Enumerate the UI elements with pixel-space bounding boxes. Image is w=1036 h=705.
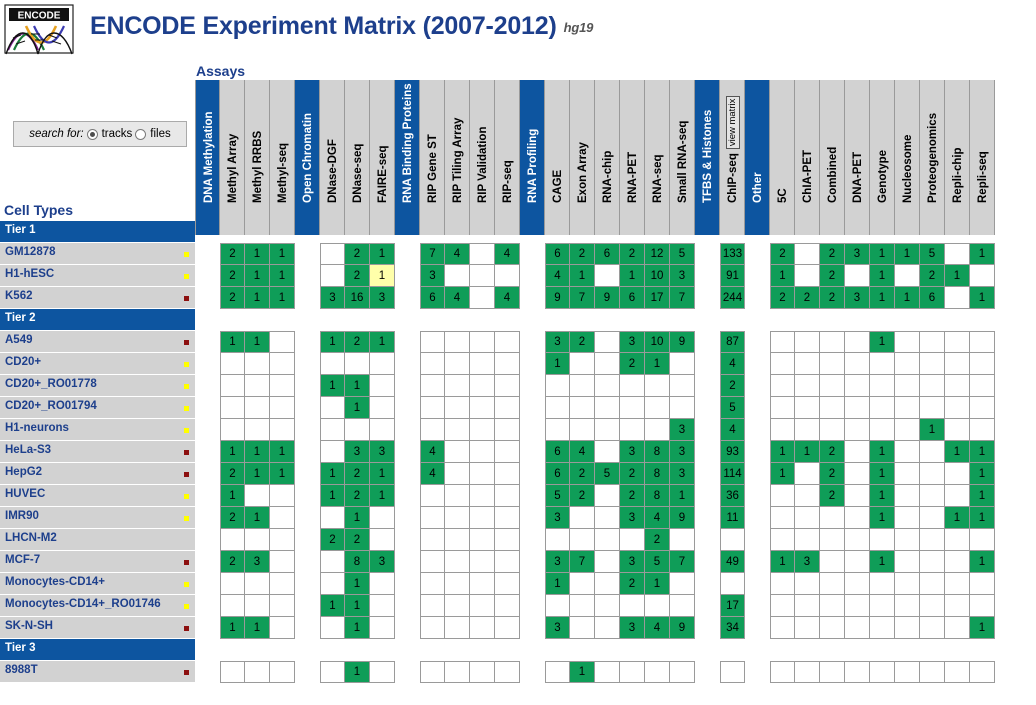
matrix-cell <box>870 397 895 419</box>
matrix-cell[interactable]: 3 <box>620 441 645 463</box>
cell-type-row[interactable]: CD20+_RO01794 <box>0 397 195 419</box>
matrix-cell[interactable]: 1 <box>220 617 245 639</box>
matrix-cell <box>820 595 845 617</box>
cell-type-label[interactable]: LHCN-M2 <box>5 532 57 544</box>
matrix-cell[interactable]: 2 <box>345 243 370 265</box>
matrix-cell[interactable]: 2 <box>345 485 370 507</box>
cell-type-row[interactable]: A549 <box>0 331 195 353</box>
assay-column-header[interactable]: RNA Binding Proteins <box>395 80 420 235</box>
matrix-cell[interactable]: 17 <box>720 595 745 617</box>
matrix-cell[interactable]: 1 <box>970 617 995 639</box>
matrix-cell[interactable]: 1 <box>245 287 270 309</box>
assay-column-header[interactable]: Methyl RRBS <box>245 80 270 235</box>
cell-type-row[interactable]: H1-hESC <box>0 265 195 287</box>
matrix-cell[interactable]: 3 <box>545 331 570 353</box>
assay-column-header[interactable]: ChIP-seqview matrix <box>720 80 745 235</box>
matrix-cell[interactable]: 2 <box>570 243 595 265</box>
matrix-cell[interactable]: 1 <box>270 441 295 463</box>
matrix-cell <box>595 595 620 617</box>
matrix-cell[interactable]: 8 <box>645 441 670 463</box>
matrix-cell[interactable]: 1 <box>945 507 970 529</box>
matrix-cell[interactable]: 36 <box>720 485 745 507</box>
assay-column-header[interactable]: Methyl Array <box>220 80 245 235</box>
assay-column-header[interactable]: DNA-PET <box>845 80 870 235</box>
matrix-cell[interactable]: 2 <box>770 287 795 309</box>
cell-type-label[interactable]: CD20+_RO01778 <box>5 378 97 390</box>
cell-type-status-dot <box>184 516 189 521</box>
matrix-cell[interactable]: 1 <box>770 441 795 463</box>
assay-column-headers: DNA MethylationMethyl ArrayMethyl RRBSMe… <box>195 80 995 235</box>
encode-logo[interactable]: ENCODE <box>4 4 82 56</box>
matrix-cell <box>795 485 820 507</box>
matrix-cell[interactable]: 2 <box>620 485 645 507</box>
tier-header-row: Tier 2 <box>0 309 195 331</box>
matrix-cell[interactable]: 4 <box>545 265 570 287</box>
matrix-cell[interactable]: 2 <box>345 331 370 353</box>
cell-type-label[interactable]: Monocytes-CD14+_RO01746 <box>5 598 161 610</box>
cell-type-row[interactable]: CD20+ <box>0 353 195 375</box>
matrix-cell[interactable]: 1 <box>970 551 995 573</box>
matrix-cell[interactable]: 3 <box>670 441 695 463</box>
matrix-cell[interactable]: 1 <box>970 287 995 309</box>
matrix-cell[interactable]: 2 <box>820 463 845 485</box>
matrix-cell[interactable]: 4 <box>645 507 670 529</box>
matrix-cell[interactable]: 4 <box>645 617 670 639</box>
tier-header-row: Tier 3 <box>0 639 195 661</box>
matrix-cell[interactable]: 11 <box>720 507 745 529</box>
matrix-cell[interactable]: 3 <box>545 551 570 573</box>
matrix-cell[interactable]: 2 <box>320 529 345 551</box>
matrix-row: 15 <box>195 397 1036 419</box>
matrix-cell[interactable]: 1 <box>970 243 995 265</box>
matrix-cell[interactable]: 9 <box>670 331 695 353</box>
matrix-cell[interactable]: 6 <box>545 243 570 265</box>
matrix-cell <box>320 265 345 287</box>
assay-column-header[interactable]: ChIA-PET <box>795 80 820 235</box>
matrix-group-gap <box>295 353 320 375</box>
cell-type-row[interactable]: SK-N-SH <box>0 617 195 639</box>
matrix-cell[interactable]: 5 <box>595 463 620 485</box>
matrix-cell[interactable]: 6 <box>595 243 620 265</box>
matrix-cell[interactable]: 2 <box>570 331 595 353</box>
matrix-cell[interactable]: 1 <box>245 507 270 529</box>
cell-type-label[interactable]: K562 <box>5 290 33 302</box>
matrix-cell[interactable]: 1 <box>770 463 795 485</box>
matrix-cell[interactable]: 5 <box>720 397 745 419</box>
cell-type-row[interactable]: LHCN-M2 <box>0 529 195 551</box>
matrix-cell <box>220 573 245 595</box>
matrix-cell[interactable]: 1 <box>970 485 995 507</box>
matrix-cell[interactable]: 1 <box>370 463 395 485</box>
matrix-group-gap <box>745 595 770 617</box>
matrix-cell[interactable]: 1 <box>870 485 895 507</box>
matrix-cell[interactable]: 4 <box>445 243 470 265</box>
matrix-cell[interactable]: 1 <box>895 243 920 265</box>
cell-type-row[interactable]: GM12878 <box>0 243 195 265</box>
cell-type-row[interactable]: H1-neurons <box>0 419 195 441</box>
matrix-cell[interactable]: 1 <box>545 353 570 375</box>
cell-type-label[interactable]: HUVEC <box>5 488 45 500</box>
matrix-cell[interactable]: 1 <box>245 463 270 485</box>
assay-column-header[interactable]: Nucleosome <box>895 80 920 235</box>
matrix-cell[interactable]: 2 <box>920 265 945 287</box>
matrix-cell[interactable]: 1 <box>345 397 370 419</box>
assay-column-header[interactable]: RIP Gene ST <box>420 80 445 235</box>
matrix-cell[interactable]: 1 <box>770 265 795 287</box>
matrix-cell[interactable]: 3 <box>670 265 695 287</box>
matrix-cell[interactable]: 133 <box>720 243 745 265</box>
matrix-cell[interactable]: 2 <box>620 463 645 485</box>
assay-column-header[interactable]: Repli-chip <box>945 80 970 235</box>
page-title: ENCODE Experiment Matrix (2007-2012)hg19 <box>90 12 593 41</box>
matrix-cell[interactable]: 244 <box>720 287 745 309</box>
radio-tracks[interactable] <box>87 129 98 140</box>
cell-type-label[interactable]: CD20+ <box>5 356 41 368</box>
matrix-cell <box>845 419 870 441</box>
cell-type-row[interactable]: Monocytes-CD14+ <box>0 573 195 595</box>
cell-type-row[interactable]: 8988T <box>0 661 195 683</box>
cell-type-label[interactable]: A549 <box>5 334 33 346</box>
matrix-cell[interactable]: 1 <box>345 375 370 397</box>
matrix-cell[interactable]: 4 <box>570 441 595 463</box>
matrix-cell[interactable]: 1 <box>345 617 370 639</box>
matrix-cell[interactable]: 1 <box>370 331 395 353</box>
cell-type-label[interactable]: GM12878 <box>5 246 56 258</box>
matrix-cell[interactable]: 1 <box>545 573 570 595</box>
matrix-cell[interactable]: 87 <box>720 331 745 353</box>
matrix-cell[interactable]: 1 <box>370 265 395 287</box>
matrix-cell[interactable]: 1 <box>945 441 970 463</box>
matrix-cell[interactable]: 3 <box>370 287 395 309</box>
matrix-cell[interactable]: 34 <box>720 617 745 639</box>
assay-column-label: Other <box>745 51 770 206</box>
matrix-row: 211334911111 <box>195 507 1036 529</box>
matrix-cell[interactable]: 9 <box>595 287 620 309</box>
cell-type-row[interactable]: HepG2 <box>0 463 195 485</box>
matrix-cell[interactable]: 4 <box>445 287 470 309</box>
cell-type-label[interactable]: SK-N-SH <box>5 620 53 632</box>
cell-types-heading: Cell Types <box>4 202 73 218</box>
matrix-cell[interactable]: 1 <box>870 441 895 463</box>
matrix-cell[interactable]: 91 <box>720 265 745 287</box>
matrix-cell[interactable]: 1 <box>220 485 245 507</box>
matrix-cell[interactable]: 1 <box>270 287 295 309</box>
matrix-cell[interactable]: 4 <box>495 243 520 265</box>
matrix-cell[interactable]: 2 <box>345 529 370 551</box>
matrix-cell[interactable]: 1 <box>320 375 345 397</box>
cell-type-row[interactable]: CD20+_RO01778 <box>0 375 195 397</box>
matrix-cell[interactable]: 49 <box>720 551 745 573</box>
matrix-cell <box>845 573 870 595</box>
matrix-cell[interactable]: 2 <box>820 485 845 507</box>
assay-column-header[interactable]: DNase-seq <box>345 80 370 235</box>
matrix-cell[interactable]: 3 <box>620 507 645 529</box>
matrix-cell[interactable]: 1 <box>245 243 270 265</box>
assay-column-header[interactable]: Genotype <box>870 80 895 235</box>
assay-column-header[interactable]: Other <box>745 80 770 235</box>
matrix-cell[interactable]: 6 <box>920 287 945 309</box>
tier-label: Tier 3 <box>5 642 35 654</box>
matrix-cell[interactable]: 2 <box>720 375 745 397</box>
matrix-cell[interactable]: 1 <box>320 331 345 353</box>
matrix-cell[interactable]: 1 <box>870 287 895 309</box>
matrix-cell[interactable]: 1 <box>945 265 970 287</box>
radio-files[interactable] <box>135 129 146 140</box>
matrix-cell[interactable]: 1 <box>320 595 345 617</box>
matrix-cell[interactable]: 3 <box>670 419 695 441</box>
matrix-cell[interactable]: 2 <box>570 463 595 485</box>
matrix-cell[interactable]: 2 <box>795 287 820 309</box>
matrix-cell <box>770 331 795 353</box>
matrix-group-gap <box>695 419 720 441</box>
matrix-cell[interactable]: 17 <box>645 287 670 309</box>
matrix-cell[interactable]: 8 <box>645 463 670 485</box>
matrix-cell[interactable]: 1 <box>370 243 395 265</box>
matrix-cell[interactable]: 2 <box>220 551 245 573</box>
matrix-cell <box>420 551 445 573</box>
matrix-cell[interactable]: 2 <box>570 485 595 507</box>
matrix-cell[interactable]: 5 <box>670 243 695 265</box>
assay-column-header[interactable]: Exon Array <box>570 80 595 235</box>
matrix-cell[interactable]: 1 <box>220 331 245 353</box>
matrix-cell[interactable]: 4 <box>495 287 520 309</box>
assay-column-label: RNA Profiling <box>520 51 545 206</box>
matrix-cell <box>945 287 970 309</box>
assay-column-header[interactable]: FAIRE-seq <box>370 80 395 235</box>
matrix-cell[interactable]: 6 <box>620 287 645 309</box>
matrix-cell[interactable]: 3 <box>670 463 695 485</box>
assay-column-header[interactable]: Small RNA-seq <box>670 80 695 235</box>
matrix-group-gap <box>295 529 320 551</box>
matrix-cell[interactable]: 1 <box>245 441 270 463</box>
matrix-cell[interactable]: 93 <box>720 441 745 463</box>
matrix-cell[interactable]: 1 <box>620 265 645 287</box>
cell-type-label[interactable]: CD20+_RO01794 <box>5 400 97 412</box>
matrix-cell[interactable]: 1 <box>245 331 270 353</box>
matrix-cell[interactable]: 2 <box>770 243 795 265</box>
assay-column-header[interactable]: RNA-PET <box>620 80 645 235</box>
matrix-cell[interactable]: 4 <box>420 463 445 485</box>
matrix-cell[interactable]: 3 <box>795 551 820 573</box>
matrix-cell[interactable]: 1 <box>220 441 245 463</box>
matrix-cell[interactable]: 7 <box>670 551 695 573</box>
radio-tracks-label[interactable]: tracks <box>102 128 133 140</box>
matrix-cell[interactable]: 9 <box>670 507 695 529</box>
matrix-cell[interactable]: 7 <box>420 243 445 265</box>
matrix-cell <box>270 485 295 507</box>
matrix-group-gap <box>520 287 545 309</box>
matrix-cell <box>245 485 270 507</box>
matrix-group-gap <box>520 243 545 265</box>
matrix-cell[interactable]: 10 <box>645 265 670 287</box>
assay-column-header[interactable]: Methyl-seq <box>270 80 295 235</box>
matrix-cell[interactable]: 2 <box>220 463 245 485</box>
matrix-cell[interactable]: 3 <box>245 551 270 573</box>
matrix-cell[interactable]: 3 <box>620 551 645 573</box>
matrix-cell[interactable]: 2 <box>820 265 845 287</box>
cell-type-row[interactable]: HeLa-S3 <box>0 441 195 463</box>
assay-column-header[interactable]: RIP-seq <box>495 80 520 235</box>
matrix-cell[interactable]: 1 <box>245 617 270 639</box>
matrix-cell[interactable]: 2 <box>220 287 245 309</box>
matrix-cell[interactable]: 1 <box>345 507 370 529</box>
matrix-cell[interactable]: 1 <box>970 463 995 485</box>
assay-column-label: Methyl RRBS <box>245 51 270 206</box>
matrix-cell[interactable]: 16 <box>345 287 370 309</box>
matrix-cell[interactable]: 3 <box>420 265 445 287</box>
matrix-cell <box>845 507 870 529</box>
matrix-cell <box>270 507 295 529</box>
matrix-cell[interactable]: 114 <box>720 463 745 485</box>
assay-column-header[interactable]: CAGE <box>545 80 570 235</box>
cell-type-row[interactable]: Monocytes-CD14+_RO01746 <box>0 595 195 617</box>
matrix-cell[interactable]: 1 <box>895 287 920 309</box>
cell-type-label[interactable]: HepG2 <box>5 466 42 478</box>
matrix-cell[interactable]: 1 <box>870 463 895 485</box>
cell-type-row[interactable]: IMR90 <box>0 507 195 529</box>
assay-column-header[interactable]: RIP Validation <box>470 80 495 235</box>
assay-column-header[interactable]: Open Chromatin <box>295 80 320 235</box>
matrix-cell[interactable]: 7 <box>570 551 595 573</box>
cell-type-row[interactable]: MCF-7 <box>0 551 195 573</box>
matrix-cell[interactable]: 2 <box>645 529 670 551</box>
matrix-cell[interactable]: 3 <box>620 331 645 353</box>
matrix-cell[interactable]: 3 <box>845 287 870 309</box>
matrix-cell[interactable]: 2 <box>345 265 370 287</box>
matrix-cell[interactable]: 1 <box>670 485 695 507</box>
matrix-cell[interactable]: 1 <box>370 485 395 507</box>
matrix-cell[interactable]: 3 <box>370 551 395 573</box>
matrix-cell[interactable]: 7 <box>570 287 595 309</box>
cell-type-label[interactable]: Monocytes-CD14+ <box>5 576 105 588</box>
cell-type-label[interactable]: 8988T <box>5 664 38 676</box>
matrix-cell[interactable]: 2 <box>620 353 645 375</box>
matrix-cell[interactable]: 3 <box>620 617 645 639</box>
matrix-cell[interactable]: 1 <box>345 661 370 683</box>
matrix-cell[interactable]: 1 <box>870 265 895 287</box>
assay-column-label: Repli-chip <box>945 51 970 206</box>
assay-column-header[interactable]: RNA Profiling <box>520 80 545 235</box>
matrix-cell[interactable]: 1 <box>870 551 895 573</box>
assay-column-header[interactable]: Proteogenomics <box>920 80 945 235</box>
matrix-cell[interactable]: 1 <box>870 507 895 529</box>
cell-type-label[interactable]: HeLa-S3 <box>5 444 51 456</box>
matrix-cell[interactable]: 4 <box>420 441 445 463</box>
cell-type-label[interactable]: IMR90 <box>5 510 39 522</box>
matrix-cell[interactable]: 4 <box>720 419 745 441</box>
assay-column-header[interactable]: RNA-seq <box>645 80 670 235</box>
matrix-cell <box>420 331 445 353</box>
matrix-cell[interactable]: 2 <box>345 463 370 485</box>
matrix-cell[interactable]: 12 <box>645 243 670 265</box>
assay-column-header[interactable]: RNA-chip <box>595 80 620 235</box>
matrix-cell[interactable]: 2 <box>820 243 845 265</box>
matrix-cell <box>870 419 895 441</box>
matrix-cell[interactable]: 1 <box>870 331 895 353</box>
matrix-cell[interactable]: 1 <box>320 463 345 485</box>
matrix-cell[interactable]: 3 <box>845 243 870 265</box>
matrix-cell[interactable]: 1 <box>645 353 670 375</box>
matrix-cell[interactable]: 6 <box>545 463 570 485</box>
matrix-cell[interactable]: 8 <box>645 485 670 507</box>
matrix-cell[interactable]: 2 <box>820 287 845 309</box>
matrix-cell[interactable]: 2 <box>220 243 245 265</box>
matrix-cell[interactable]: 2 <box>820 441 845 463</box>
matrix-cell[interactable]: 5 <box>920 243 945 265</box>
matrix-cell[interactable]: 1 <box>245 265 270 287</box>
matrix-cell[interactable]: 10 <box>645 331 670 353</box>
matrix-cell[interactable]: 6 <box>420 287 445 309</box>
matrix-cell[interactable]: 7 <box>670 287 695 309</box>
matrix-group-gap <box>520 265 545 287</box>
matrix-cell[interactable]: 1 <box>270 463 295 485</box>
matrix-group-gap <box>295 507 320 529</box>
assay-column-header[interactable]: TFBS & Histones <box>695 80 720 235</box>
assay-column-header[interactable]: Combined <box>820 80 845 235</box>
matrix-cell <box>495 353 520 375</box>
view-matrix-button[interactable]: view matrix <box>726 96 740 150</box>
matrix-cell[interactable]: 6 <box>545 441 570 463</box>
assay-column-header[interactable]: DNA Methylation <box>195 80 220 235</box>
matrix-cell[interactable]: 1 <box>970 507 995 529</box>
matrix-cell[interactable]: 3 <box>320 287 345 309</box>
matrix-cell[interactable]: 1 <box>645 573 670 595</box>
matrix-cell[interactable]: 3 <box>545 617 570 639</box>
matrix-cell[interactable]: 2 <box>620 573 645 595</box>
matrix-cell[interactable]: 2 <box>220 507 245 529</box>
radio-files-label[interactable]: files <box>150 128 170 140</box>
assay-column-header[interactable]: 5C <box>770 80 795 235</box>
matrix-cell <box>595 397 620 419</box>
matrix-group-gap <box>695 331 720 353</box>
cell-type-row[interactable]: HUVEC <box>0 485 195 507</box>
assay-column-header[interactable]: RIP Tiling Array <box>445 80 470 235</box>
matrix-group-gap <box>295 265 320 287</box>
matrix-cell[interactable]: 4 <box>720 353 745 375</box>
matrix-cell[interactable]: 1 <box>570 661 595 683</box>
matrix-cell[interactable]: 1 <box>270 243 295 265</box>
matrix-cell[interactable]: 3 <box>545 507 570 529</box>
matrix-cell <box>470 375 495 397</box>
matrix-cell[interactable]: 5 <box>545 485 570 507</box>
matrix-cell[interactable]: 1 <box>795 441 820 463</box>
assay-column-header[interactable]: Repli-seq <box>970 80 995 235</box>
matrix-cell[interactable]: 2 <box>620 243 645 265</box>
matrix-cell[interactable]: 1 <box>320 485 345 507</box>
cell-type-row[interactable]: K562 <box>0 287 195 309</box>
matrix-cell[interactable]: 1 <box>970 441 995 463</box>
matrix-cell[interactable]: 9 <box>545 287 570 309</box>
matrix-cell[interactable]: 1 <box>270 265 295 287</box>
matrix-cell[interactable]: 9 <box>670 617 695 639</box>
cell-type-label[interactable]: H1-neurons <box>5 422 69 434</box>
matrix-cell[interactable]: 2 <box>220 265 245 287</box>
matrix-cell[interactable]: 1 <box>920 419 945 441</box>
cell-type-label[interactable]: MCF-7 <box>5 554 40 566</box>
matrix-cell[interactable]: 8 <box>345 551 370 573</box>
assay-column-header[interactable]: DNase-DGF <box>320 80 345 235</box>
matrix-cell[interactable]: 1 <box>345 595 370 617</box>
matrix-row: 1214 <box>195 353 1036 375</box>
matrix-cell[interactable]: 5 <box>645 551 670 573</box>
matrix-cell[interactable]: 3 <box>370 441 395 463</box>
matrix-cell[interactable]: 1 <box>770 551 795 573</box>
matrix-cell[interactable]: 3 <box>345 441 370 463</box>
matrix-cell[interactable]: 1 <box>870 243 895 265</box>
matrix-cell[interactable]: 1 <box>570 265 595 287</box>
matrix-cell[interactable]: 1 <box>345 573 370 595</box>
cell-type-label[interactable]: H1-hESC <box>5 268 54 280</box>
